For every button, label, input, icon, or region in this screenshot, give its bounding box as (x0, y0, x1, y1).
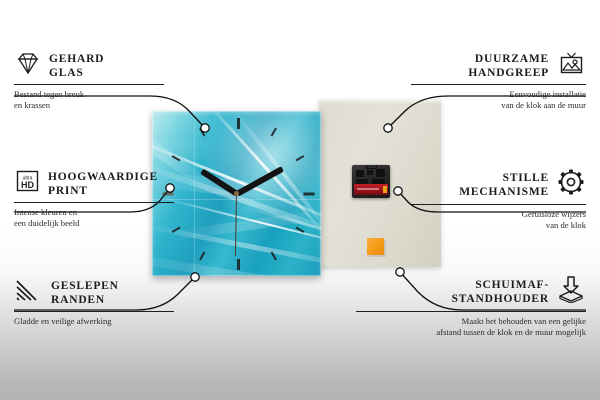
callout-desc-line1: Eenvoudige installatie (411, 89, 586, 100)
mechanism-detail (356, 170, 364, 177)
callout-title-line2: STANDHOUDER (452, 292, 549, 306)
mechanism-detail (376, 169, 385, 177)
printed-glass-clock-face (152, 111, 321, 276)
svg-text:HD: HD (21, 180, 34, 190)
gear-icon (556, 168, 586, 201)
callout-schuimafstandhouder[interactable]: SCHUIMAF- STANDHOUDER Maakt het behouden… (356, 275, 586, 337)
callout-divider (14, 84, 164, 85)
callout-desc-line1: Bestand tegen breuk (14, 89, 164, 100)
foam-spacer-icon (556, 275, 586, 308)
callout-geslepen-randen[interactable]: GESLEPEN RANDEN Gladde en veilige afwerk… (14, 278, 174, 327)
callout-divider (411, 84, 586, 85)
ultra-hd-icon: ultra HD (14, 168, 41, 199)
callout-desc-line2: van de klok (411, 220, 586, 231)
callout-desc-line2: afstand tussen de klok en de muur mogeli… (356, 327, 586, 338)
callout-desc-line2: een duidelijk beeld (14, 218, 174, 229)
callout-gehard-glas[interactable]: GEHARD GLAS Bestand tegen breuk en krass… (14, 50, 164, 110)
callout-title-line2: MECHANISME (459, 185, 549, 199)
foam-spacer-pad (367, 238, 384, 255)
callout-title-line1: STILLE (459, 171, 549, 185)
callout-title-line2: RANDEN (51, 293, 119, 307)
beveled-edge-icon (14, 278, 44, 308)
callout-desc-line1: Gladde en veilige afwerking (14, 316, 174, 327)
callout-stille-mechanisme[interactable]: STILLE MECHANISME (411, 168, 586, 230)
callout-title-line1: DUURZAME (468, 52, 549, 66)
clock-hour-hand (200, 168, 238, 196)
callout-title-line1: SCHUIMAF- (452, 278, 549, 292)
callout-desc-line2: en krassen (14, 100, 164, 111)
quartz-clock-mechanism (352, 165, 390, 198)
callout-duurzame-handgreep[interactable]: DUURZAME HANDGREEP Eenvoudige installati… (411, 50, 586, 110)
callout-title-line1: HOOGWAARDIGE (48, 170, 158, 184)
callout-title-line2: HANDGREEP (468, 66, 549, 80)
callout-divider (356, 311, 586, 312)
callout-desc-line1: Maakt het behouden van een gelijke (356, 316, 586, 327)
callout-desc-line2: van de klok aan de muur (411, 100, 586, 111)
callout-title-line2: PRINT (48, 184, 158, 198)
callout-desc-line1: Geruisloze wijzers (411, 209, 586, 220)
clock-second-hand (235, 193, 237, 255)
callout-hoogwaardige-print[interactable]: ultra HD HOOGWAARDIGE PRINT Intense kleu… (14, 168, 174, 228)
callout-divider (411, 204, 586, 205)
mechanism-detail (367, 170, 373, 175)
callout-desc-line1: Intense kleuren en (14, 207, 174, 218)
battery-label-stripe (357, 188, 379, 190)
picture-hanging-icon (556, 50, 586, 81)
diamond-icon (14, 50, 42, 81)
clock-minute-hand (235, 166, 283, 196)
callout-title-line1: GESLEPEN (51, 279, 119, 293)
callout-title-line1: GEHARD (49, 52, 104, 66)
clock-hub (234, 191, 239, 196)
clock-battery (354, 184, 388, 195)
callout-divider (14, 311, 174, 312)
clock-dial (152, 111, 321, 276)
product-feature-infographic: GEHARD GLAS Bestand tegen breuk en krass… (0, 0, 600, 400)
callout-divider (14, 202, 174, 203)
callout-title-line2: GLAS (49, 66, 104, 80)
